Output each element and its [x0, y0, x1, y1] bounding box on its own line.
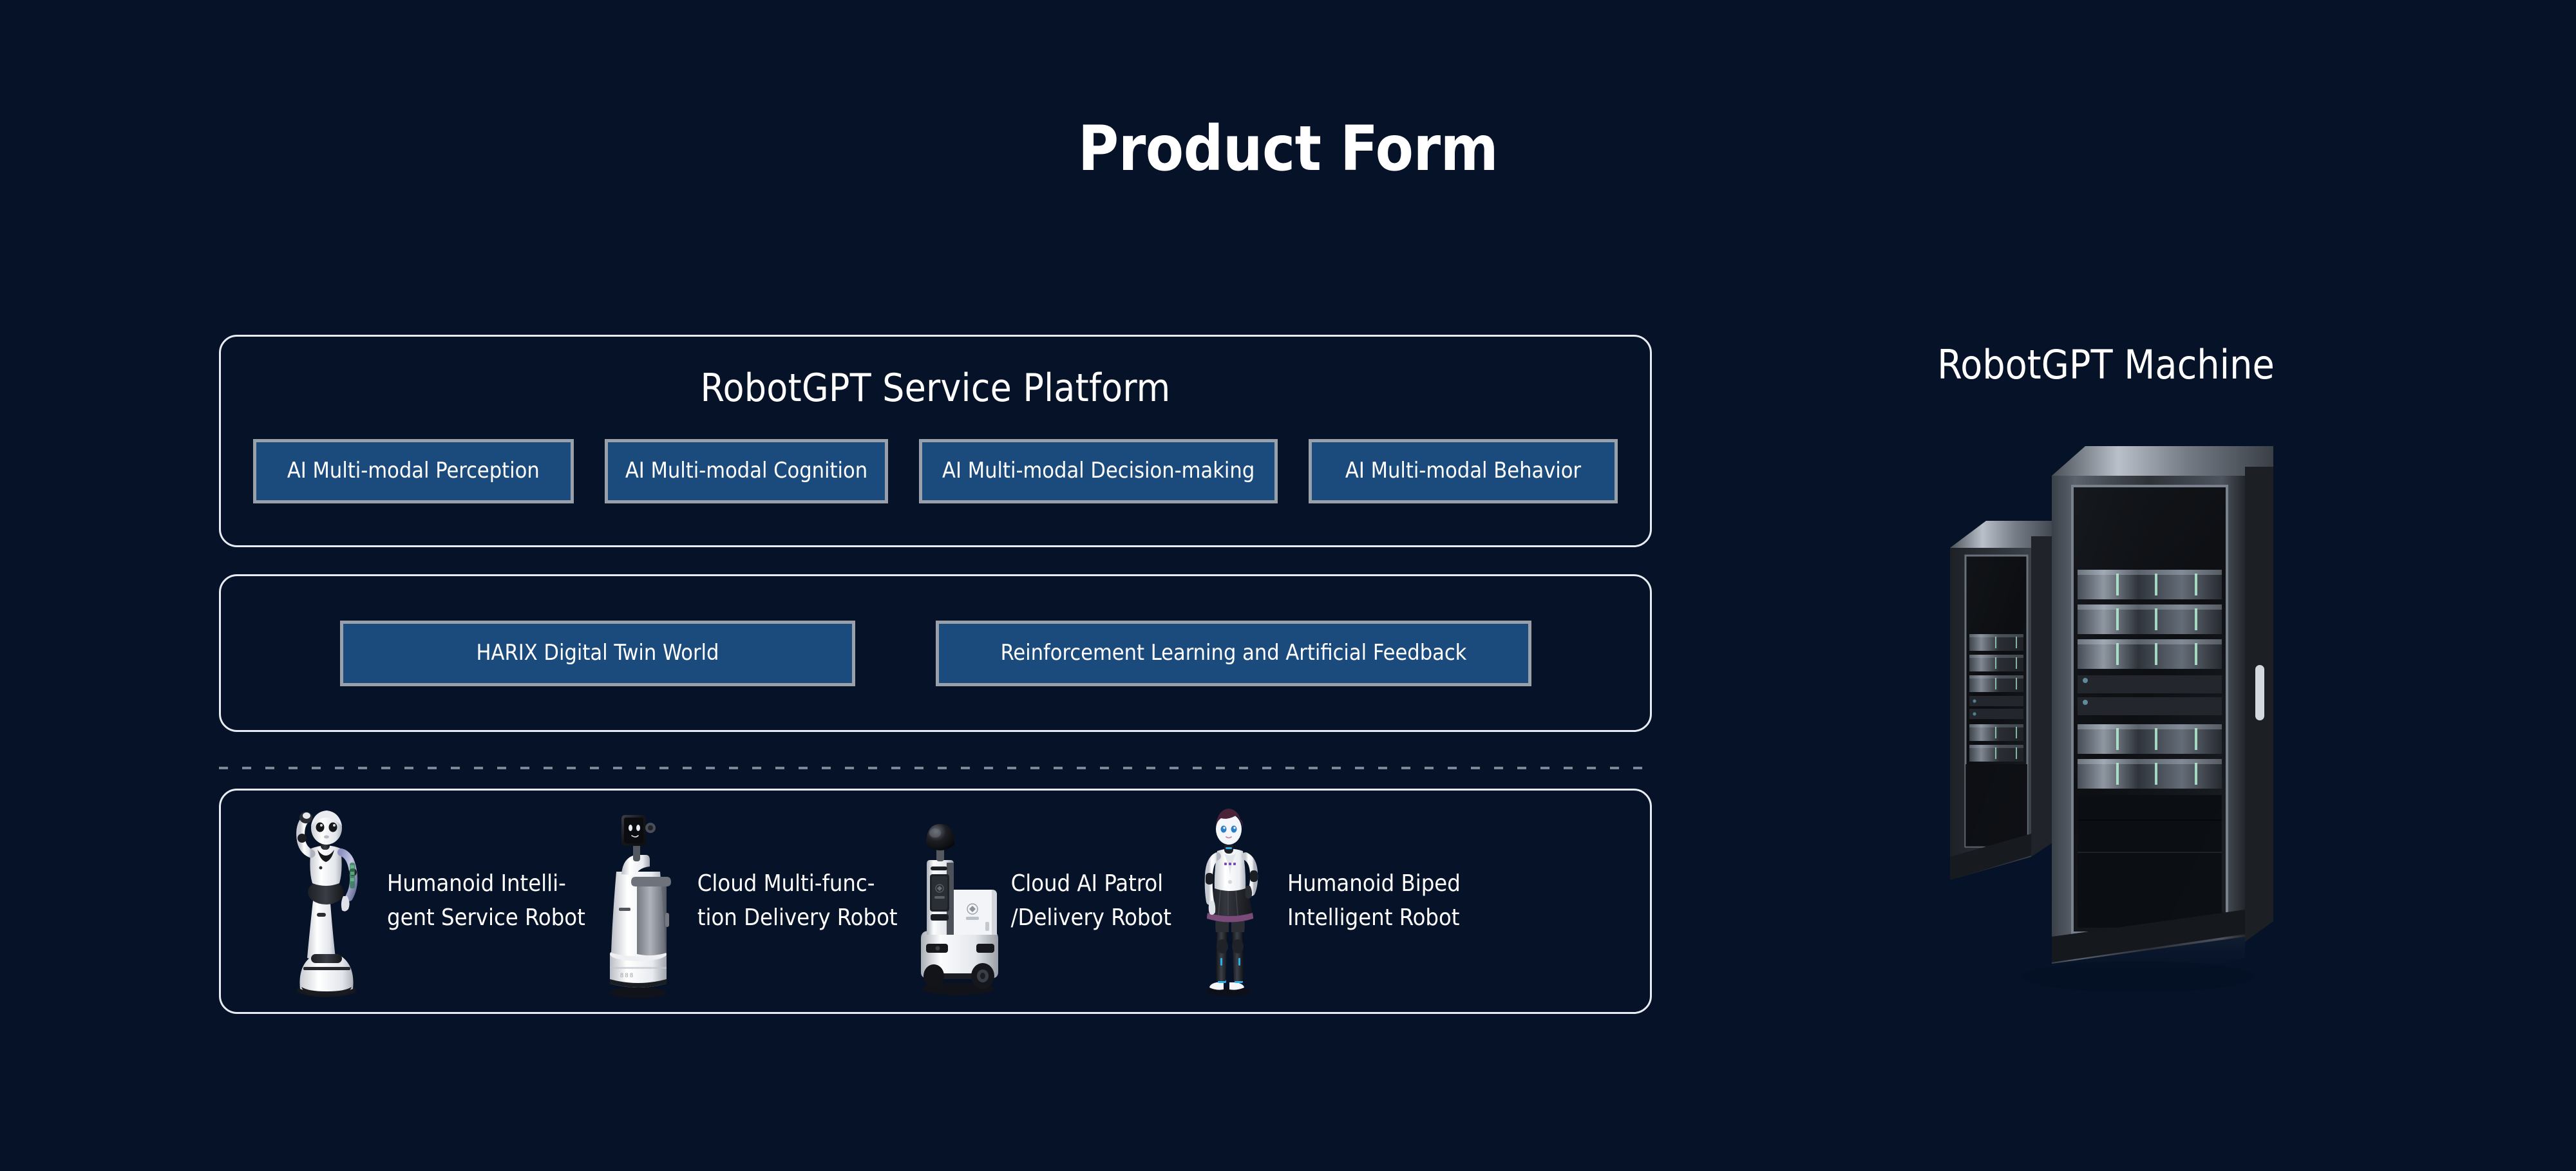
robot-label-cloud-delivery: Cloud Multi-func- tion Delivery Robot — [697, 867, 898, 935]
robot-label-biped-humanoid: Humanoid Biped Intelligent Robot — [1287, 867, 1461, 935]
robot-item-patrol-delivery[interactable]: Cloud AI Patrol /Delivery Robot — [904, 805, 1171, 998]
robot-label-patrol-delivery: Cloud AI Patrol /Delivery Robot — [1011, 867, 1171, 935]
capability-chip-cognition[interactable]: AI Multi-modal Cognition — [605, 439, 889, 503]
capability-chip-behavior[interactable]: AI Multi-modal Behavior — [1309, 439, 1618, 503]
engine-chip-reinforcement-learning[interactable]: Reinforcement Learning and Artificial Fe… — [936, 621, 1531, 686]
section-divider — [219, 767, 1652, 769]
biped-humanoid-robot-icon — [1180, 805, 1277, 998]
humanoid-service-robot-icon — [280, 805, 377, 998]
capability-chip-decision-making[interactable]: AI Multi-modal Decision-making — [919, 439, 1278, 503]
platform-engine-panel: HARIX Digital Twin World Reinforcement L… — [219, 574, 1652, 732]
svg-text:8 8 8: 8 8 8 — [620, 972, 633, 979]
robot-label-humanoid-service: Humanoid Intelli- gent Service Robot — [387, 867, 585, 935]
capability-chip-row: AI Multi-modal Perception AI Multi-modal… — [221, 439, 1650, 503]
capability-chip-perception[interactable]: AI Multi-modal Perception — [253, 439, 574, 503]
slide-root: Product Form RobotGPT Service Platform A… — [0, 0, 2576, 1171]
platform-capability-panel: RobotGPT Service Platform AI Multi-modal… — [219, 335, 1652, 547]
server-rack-primary — [2052, 446, 2273, 964]
machine-column: RobotGPT Machine — [1848, 341, 2363, 1019]
cloud-delivery-robot-icon: 8 8 8 — [591, 805, 687, 998]
engine-chip-harix-digital-twin[interactable]: HARIX Digital Twin World — [340, 621, 855, 686]
platform-title: RobotGPT Service Platform — [221, 337, 1650, 411]
robot-item-cloud-delivery[interactable]: 8 8 8 — [591, 805, 898, 998]
server-rack-secondary — [1950, 521, 2058, 880]
robot-item-biped-humanoid[interactable]: Humanoid Biped Intelligent Robot — [1180, 805, 1461, 998]
machine-title: RobotGPT Machine — [1848, 341, 2363, 388]
platform-column: RobotGPT Service Platform AI Multi-modal… — [219, 335, 1652, 1014]
server-rack-icon — [1926, 427, 2286, 1019]
robot-item-humanoid-service[interactable]: Humanoid Intelli- gent Service Robot — [280, 805, 585, 998]
page-title: Product Form — [0, 113, 2576, 185]
patrol-delivery-robot-icon — [904, 805, 1001, 998]
robot-lineup-panel: Humanoid Intelli- gent Service Robot — [219, 789, 1652, 1014]
